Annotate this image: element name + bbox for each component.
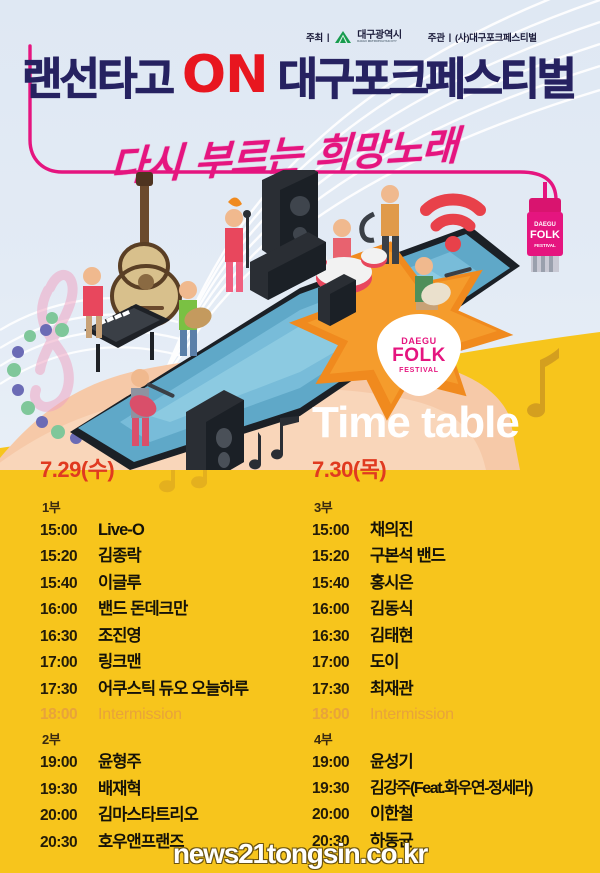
svg-text:FESTIVAL: FESTIVAL (534, 243, 556, 248)
daegu-city-logo-icon (333, 30, 353, 44)
row-artist: 어쿠스틱 듀오 오늘하루 (98, 678, 248, 700)
schedule-row: 15:20김종락 (40, 545, 312, 568)
center-guitarist (179, 281, 215, 356)
badge-line-3: FESTIVAL (399, 367, 439, 374)
row-time: 15:40 (40, 574, 98, 595)
row-time: 16:30 (312, 627, 370, 648)
schedule-row: 19:00윤성기 (312, 751, 584, 774)
section-label: 3부 (314, 497, 584, 516)
row-time: 16:30 (40, 627, 98, 648)
title-part-on: ON (182, 45, 268, 105)
schedule-row: 15:00채의진 (312, 519, 584, 542)
row-artist: 이글루 (98, 572, 141, 594)
row-artist: 김동식 (370, 598, 413, 620)
schedule-row: 17:30어쿠스틱 듀오 오늘하루 (40, 678, 312, 701)
svg-text:DAEGU: DAEGU (534, 222, 556, 228)
schedule-row: 16:30조진영 (40, 625, 312, 648)
row-time: 17:30 (312, 680, 370, 701)
organizer-label: 주관 (428, 30, 445, 44)
lan-plug-icon: DAEGU FOLK FESTIVAL (515, 182, 575, 292)
schedule-section: 3부 15:00채의진 15:20구본석 밴드 15:40홍시은 16:00김동… (312, 497, 584, 726)
row-time: 16:00 (40, 600, 98, 621)
row-time: 18:00 (40, 705, 98, 726)
schedule-row: 19:00윤형주 (40, 751, 312, 774)
row-artist: Intermission (370, 704, 454, 726)
schedule-row: 19:30배재혁 (40, 778, 312, 801)
schedule-sections: 3부 15:00채의진 15:20구본석 밴드 15:40홍시은 16:00김동… (312, 497, 584, 853)
organizer-line: 주최 | 대구광역시 DAEGU METROPOLITAN CITY 주관 | … (306, 30, 537, 44)
row-artist: 이한철 (370, 803, 413, 825)
section-rows: 15:00Live-O 15:20김종락 15:40이글루 16:00밴드 돈데… (40, 519, 312, 726)
schedule-row-intermission: 18:00Intermission (312, 704, 584, 726)
row-time: 15:20 (312, 547, 370, 568)
schedule-row: 15:40이글루 (40, 572, 312, 595)
title-part-1: 랜선타고 (22, 43, 172, 107)
schedule-sections: 1부 15:00Live-O 15:20김종락 15:40이글루 16:00밴드… (40, 497, 312, 854)
row-artist: 윤형주 (98, 751, 141, 773)
row-artist: 밴드 돈데크만 (98, 598, 187, 620)
schedule-row: 17:00도이 (312, 651, 584, 674)
host-separator: | (327, 32, 329, 43)
row-time: 18:00 (312, 705, 370, 726)
row-artist: 배재혁 (98, 778, 141, 800)
schedule-row: 17:30최재관 (312, 678, 584, 701)
host-block: 주최 | 대구광역시 DAEGU METROPOLITAN CITY (306, 30, 402, 44)
row-artist: Intermission (98, 704, 182, 726)
schedule-row: 16:00밴드 돈데크만 (40, 598, 312, 621)
festival-poster: 주최 | 대구광역시 DAEGU METROPOLITAN CITY 주관 | … (0, 0, 600, 873)
row-time: 15:40 (312, 574, 370, 595)
row-time: 16:00 (312, 600, 370, 621)
schedule-row: 15:40홍시은 (312, 572, 584, 595)
section-label: 2부 (42, 729, 312, 748)
lead-singer (225, 197, 251, 292)
section-label: 4부 (314, 729, 584, 748)
schedule-row: 16:00김동식 (312, 598, 584, 621)
row-artist: 홍시은 (370, 572, 413, 594)
treble-clef-icon (35, 275, 73, 407)
row-artist: 김종락 (98, 545, 141, 567)
schedule-row: 20:00김마스타트리오 (40, 804, 312, 827)
row-time: 17:30 (40, 680, 98, 701)
schedule-row: 20:00이한철 (312, 803, 584, 826)
row-time: 17:00 (40, 653, 98, 674)
host-label: 주최 (306, 30, 323, 44)
host-name-block: 대구광역시 DAEGU METROPOLITAN CITY (357, 31, 402, 44)
schedule-date: 7.29(수) (40, 452, 312, 484)
schedule-row: 15:00Live-O (40, 519, 312, 542)
row-time: 20:00 (312, 805, 370, 826)
schedule-section: 2부 19:00윤형주 19:30배재혁 20:00김마스타트리오 20:30호… (40, 729, 312, 853)
schedule-section: 4부 19:00윤성기 19:30김강주(Feat.화우연-정세라) 20:00… (312, 729, 584, 852)
schedule-row-intermission: 18:00Intermission (40, 704, 312, 726)
row-artist: 최재관 (370, 678, 413, 700)
schedule-row: 17:00링크맨 (40, 651, 312, 674)
wifi-icon (418, 192, 488, 262)
row-time: 19:30 (312, 779, 370, 800)
organizer-separator: | (449, 32, 451, 43)
row-time: 19:00 (312, 753, 370, 774)
schedule-column-day2: 7.30(목) 3부 15:00채의진 15:20구본석 밴드 15:40홍시은… (312, 452, 584, 856)
row-time: 19:30 (40, 780, 98, 801)
schedule-section: 1부 15:00Live-O 15:20김종락 15:40이글루 16:00밴드… (40, 497, 312, 726)
row-artist: 김강주(Feat.화우연-정세라) (370, 778, 532, 800)
row-artist: Live-O (98, 519, 144, 541)
row-artist: 조진영 (98, 625, 141, 647)
site-watermark: news21tongsin.co.kr (0, 838, 600, 870)
section-rows: 15:00채의진 15:20구본석 밴드 15:40홍시은 16:00김동식 1… (312, 519, 584, 726)
schedule-row: 19:30김강주(Feat.화우연-정세라) (312, 778, 584, 800)
schedule-date: 7.30(목) (312, 452, 584, 484)
title-part-3: 대구포크페스티벌 (278, 43, 574, 107)
row-time: 17:00 (312, 653, 370, 674)
organizer-name: (사)대구포크페스티벌 (455, 30, 537, 44)
timetable-heading: Time table (312, 398, 519, 448)
row-time: 15:20 (40, 547, 98, 568)
festival-logo-text: DAEGU FOLK FESTIVAL (375, 312, 463, 398)
row-time: 20:00 (40, 806, 98, 827)
row-artist: 도이 (370, 651, 399, 673)
row-artist: 윤성기 (370, 751, 413, 773)
row-artist: 김마스타트리오 (98, 804, 198, 826)
acoustic-guitar-icon (112, 172, 180, 326)
schedule-row: 15:20구본석 밴드 (312, 545, 584, 568)
organizer-block: 주관 | (사)대구포크페스티벌 (428, 30, 537, 44)
svg-text:FOLK: FOLK (530, 229, 560, 241)
page-title: 랜선타고 ON 대구포크페스티벌 (22, 44, 582, 106)
row-artist: 채의진 (370, 519, 413, 541)
row-time: 19:00 (40, 753, 98, 774)
badge-line-2: FOLK (392, 347, 446, 365)
row-artist: 김태현 (370, 625, 413, 647)
row-artist: 구본석 밴드 (370, 545, 445, 567)
schedule-column-day1: 7.29(수) 1부 15:00Live-O 15:20김종락 15:40이글루… (40, 452, 312, 857)
row-artist: 링크맨 (98, 651, 141, 673)
row-time: 15:00 (312, 521, 370, 542)
row-time: 15:00 (40, 521, 98, 542)
section-label: 1부 (42, 497, 312, 516)
schedule-row: 16:30김태현 (312, 625, 584, 648)
